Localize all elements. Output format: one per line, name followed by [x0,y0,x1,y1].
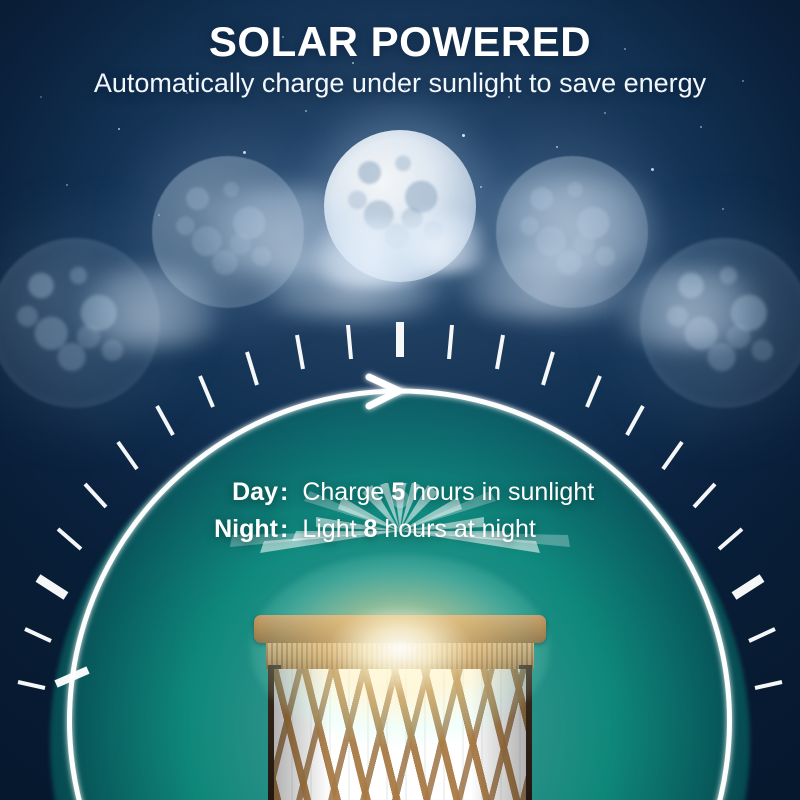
spec-colon-day: : [278,478,288,507]
spec-number-day: 5 [391,478,405,506]
spec-prefix-day: Charge [302,478,391,506]
solar-lantern-icon [250,585,550,800]
spec-number-night: 8 [364,515,378,543]
page-title: SOLAR POWERED [0,18,800,66]
spec-row-day: Day : Charge 5 hours in sunlight [186,478,626,507]
spec-colon-night: : [278,515,288,544]
spec-prefix-night: Light [302,515,363,543]
spec-value-night: Light 8 hours at night [288,515,536,544]
spec-suffix-day: hours in sunlight [405,478,594,506]
spec-row-night: Night : Light 8 hours at night [186,515,626,544]
spec-label-night: Night [186,515,278,544]
spec-value-day: Charge 5 hours in sunlight [288,478,594,507]
charge-spec-list: Day : Charge 5 hours in sunlight Night :… [186,478,626,552]
solar-powered-infographic: SOLAR POWERED Automatically charge under… [0,0,800,800]
spec-suffix-night: hours at night [377,515,535,543]
spec-label-day: Day [186,478,278,507]
lantern-light-halo [250,554,550,744]
page-subtitle: Automatically charge under sunlight to s… [0,68,800,99]
